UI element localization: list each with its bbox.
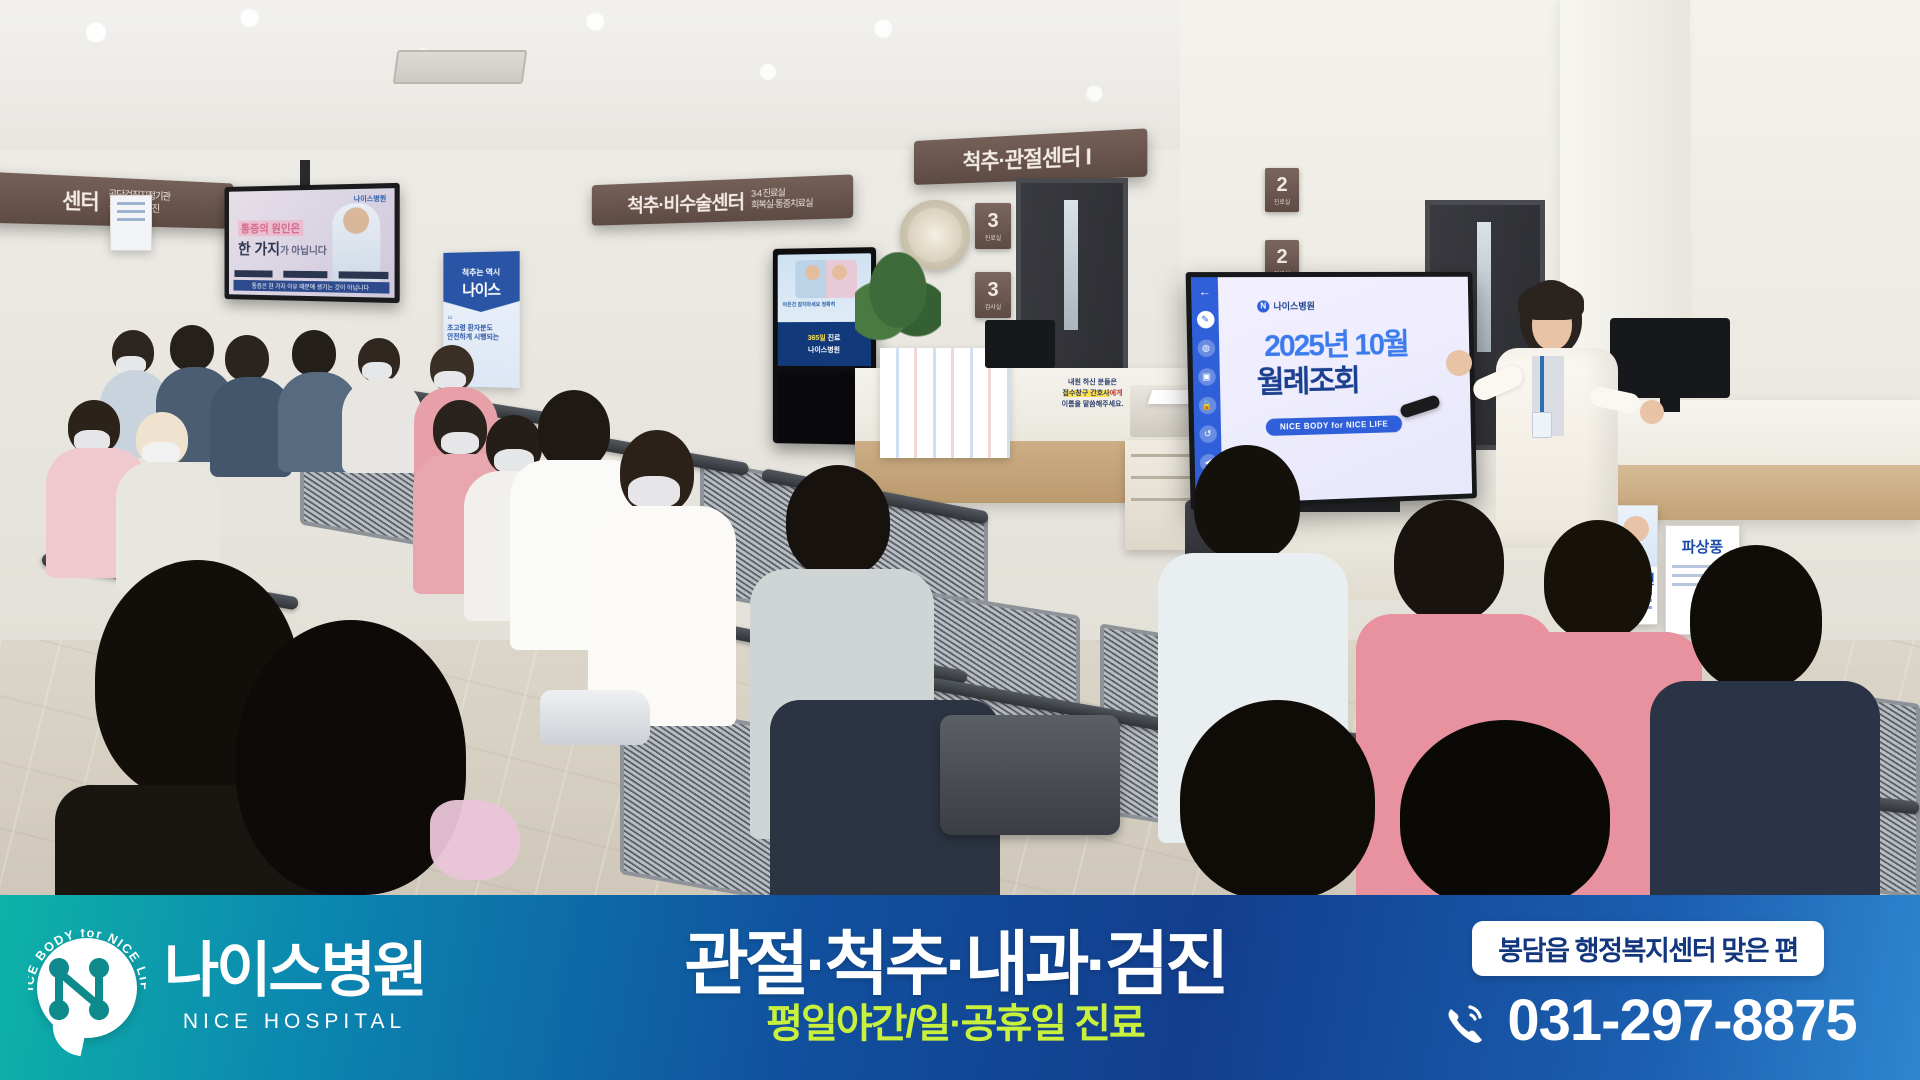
- sign-main-text: 센터: [62, 185, 98, 217]
- back-arrow-icon[interactable]: ←: [1198, 285, 1211, 297]
- slide-brand-name: 나이스병원: [1273, 299, 1315, 312]
- kiosk-photo: [795, 260, 857, 299]
- sneaker: [540, 690, 650, 745]
- promo-banner: NICE BODY for NICE LIFE 나이스병원 NICE HOSPI…: [0, 895, 1920, 1080]
- room-number: 2: [1276, 175, 1287, 195]
- banner-body-2: 안전하게 시행되는: [447, 333, 515, 343]
- pen-icon[interactable]: ✎: [1196, 311, 1214, 329]
- promo-subheadline: 평일야간/일·공휴일 진료: [766, 1002, 1144, 1046]
- ac-vent: [393, 50, 528, 84]
- slide-tagline: NICE BODY for NICE LIFE: [1266, 415, 1402, 436]
- lock-icon[interactable]: 🔒: [1198, 397, 1216, 415]
- room-number: 2: [1276, 247, 1287, 267]
- wall-notice-left: [110, 195, 152, 251]
- tv-headline-2: 한 가지가 아닙니다: [238, 238, 327, 259]
- hospital-logo-block: NICE BODY for NICE LIFE 나이스병원 NICE HOSPI…: [0, 929, 530, 1047]
- room-label: 진료실: [985, 233, 1002, 242]
- eraser-icon[interactable]: ◍: [1197, 339, 1215, 357]
- nice-logo-icon: N: [1257, 300, 1269, 312]
- sign-main-text: 척추·비수술센터: [627, 186, 744, 217]
- room-number: 3: [987, 211, 998, 231]
- logo-arc-text: NICE BODY for NICE LIFE: [28, 929, 146, 1047]
- promo-headline: 관절·척추·내과·검진: [684, 929, 1225, 1000]
- room-plate-3-exam: 3 진료실: [975, 203, 1011, 249]
- hospital-lobby-photo: 척추·관절센터 I 척추·비수술센터 3·4 진료실 회복실·통증치료실 센터 …: [0, 0, 1920, 895]
- nice-bubble-logo-icon: NICE BODY for NICE LIFE: [28, 929, 146, 1047]
- slide-title-line-2: 월례조회: [1256, 367, 1359, 399]
- undo-icon[interactable]: ↺: [1199, 425, 1217, 443]
- svg-text:NICE BODY for NICE LIFE: NICE BODY for NICE LIFE: [28, 929, 146, 992]
- slide-title-line-1: 2025년 10월: [1264, 330, 1408, 362]
- sign-text: 척추·관절센터 I: [963, 139, 1091, 177]
- sign-sub-text: 3·4 진료실 회복실·통증치료실: [751, 186, 813, 211]
- kiosk-promo-brand: 나이스병원: [808, 345, 840, 355]
- slide-brand: N 나이스병원: [1257, 299, 1315, 312]
- phone-call-icon: [1439, 995, 1491, 1047]
- phone-row[interactable]: 031-297-8875: [1439, 987, 1856, 1054]
- tv-caption: 통증은 한 가지 이유 때문에 생기는 것이 아닙니다: [234, 280, 390, 294]
- room-plate-3-test: 3 검사실: [975, 272, 1011, 318]
- banner-top-small: 척추는 역시: [462, 267, 500, 279]
- reception-monitor-left: [985, 320, 1055, 368]
- promo-contact-block: 봉담읍 행정복지센터 맞은 편 031-297-8875: [1400, 921, 1920, 1054]
- kiosk-promo-days: 365일 진료: [808, 333, 841, 343]
- quote-mark-icon: “: [447, 317, 515, 324]
- hospital-name-en: NICE HOSPITAL: [183, 1010, 406, 1034]
- room-label: 진료실: [1274, 197, 1291, 206]
- room-number: 3: [987, 280, 998, 300]
- tv-divider: [234, 270, 388, 279]
- screenshot-root: 척추·관절센터 I 척추·비수술센터 3·4 진료실 회복실·통증치료실 센터 …: [0, 0, 1920, 1080]
- tv-headline-1: 통증의 원인은: [238, 220, 303, 236]
- banner-body-1: 초고령 환자분도: [447, 324, 515, 333]
- hospital-name-kr: 나이스병원: [164, 941, 425, 1001]
- logo-arc-label: NICE BODY for NICE LIFE: [28, 929, 146, 992]
- promo-text-block: 관절·척추·내과·검진 평일야간/일·공휴일 진료: [510, 929, 1400, 1046]
- potted-plant: [855, 252, 941, 347]
- room-label: 검사실: [985, 302, 1002, 311]
- backpack: [940, 715, 1120, 835]
- address-badge: 봉담읍 행정복지센터 맞은 편: [1472, 921, 1824, 976]
- banner-top-big: 나이스: [462, 279, 500, 300]
- kiosk-body-text: 아픈건 참지마세요 정확히: [783, 302, 866, 310]
- phone-number[interactable]: 031-297-8875: [1507, 987, 1856, 1054]
- lobby-tv-left: 나이스병원 통증의 원인은 한 가지가 아닙니다 통증은 한 가지 이유 때문에…: [225, 183, 400, 303]
- face-mask: [430, 800, 520, 880]
- shape-icon[interactable]: ▣: [1197, 368, 1215, 386]
- room-plate-2-upper: 2 진료실: [1265, 168, 1299, 212]
